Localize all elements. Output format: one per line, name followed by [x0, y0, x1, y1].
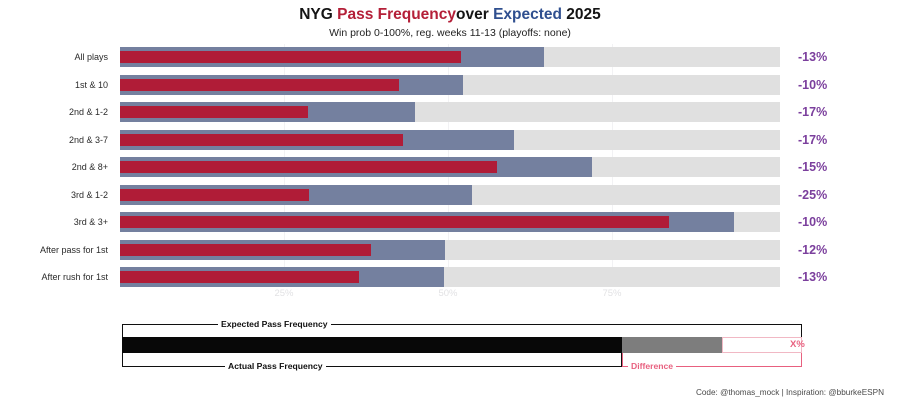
row-difference-label: -17%: [798, 127, 827, 153]
title-part-over: over: [456, 6, 493, 23]
page-title: NYG Pass Frequencyover Expected 2025: [0, 6, 900, 24]
bar-track: [120, 75, 780, 95]
bar-row: 2nd & 1-2-17%: [0, 99, 900, 125]
legend-label-x-percent: X%: [790, 339, 805, 350]
bar-row: All plays-13%: [0, 44, 900, 70]
bar-row: 2nd & 8+-15%: [0, 154, 900, 180]
bar-track: [120, 212, 780, 232]
row-difference-label: -17%: [798, 99, 827, 125]
legend-label-expected: Expected Pass Frequency: [218, 319, 331, 329]
bar-track: [120, 240, 780, 260]
bar-row: 2nd & 3-7-17%: [0, 127, 900, 153]
row-label-2nd-8: 2nd & 8+: [0, 154, 108, 180]
row-label-after-rush-for-1st: After rush for 1st: [0, 264, 108, 290]
bar-row: After pass for 1st-12%: [0, 237, 900, 263]
row-label-2nd-1-2: 2nd & 1-2: [0, 99, 108, 125]
row-label-1st-10: 1st & 10: [0, 72, 108, 98]
row-label-3rd-3: 3rd & 3+: [0, 209, 108, 235]
bar-track: [120, 267, 780, 287]
row-label-3rd-1-2: 3rd & 1-2: [0, 182, 108, 208]
x-axis-tick-label: 25%: [274, 288, 293, 299]
bar-track: [120, 130, 780, 150]
bar-track: [120, 157, 780, 177]
bar-track: [120, 102, 780, 122]
bar-actual: [120, 189, 309, 201]
legend-segment-difference: [622, 337, 722, 353]
bar-actual: [120, 244, 371, 256]
row-label-after-pass-for-1st: After pass for 1st: [0, 237, 108, 263]
row-difference-label: -10%: [798, 209, 827, 235]
bar-track: [120, 47, 780, 67]
bar-row: 3rd & 3+-10%: [0, 209, 900, 235]
footer-credit: Code: @thomas_mock | Inspiration: @bburk…: [696, 388, 884, 397]
title-part-pass-frequency: Pass Frequency: [337, 6, 456, 23]
legend-schematic: Expected Pass Frequency Actual Pass Freq…: [0, 312, 900, 374]
row-difference-label: -13%: [798, 264, 827, 290]
chart-plot-area: All plays-13%1st & 10-10%2nd & 1-2-17%2n…: [0, 44, 900, 292]
row-difference-label: -13%: [798, 44, 827, 70]
legend-bracket-actual: [122, 353, 622, 367]
row-label-2nd-3-7: 2nd & 3-7: [0, 127, 108, 153]
bar-row: 3rd & 1-2-25%: [0, 182, 900, 208]
bar-row: After rush for 1st-13%: [0, 264, 900, 290]
chart-subtitle: Win prob 0-100%, reg. weeks 11-13 (playo…: [0, 27, 900, 40]
row-difference-label: -15%: [798, 154, 827, 180]
title-part-year: 2025: [562, 6, 601, 23]
bar-actual: [120, 106, 308, 118]
legend-label-difference: Difference: [628, 361, 676, 371]
bar-track: [120, 185, 780, 205]
row-difference-label: -25%: [798, 182, 827, 208]
row-difference-label: -12%: [798, 237, 827, 263]
bar-actual: [120, 216, 669, 228]
title-part-team: NYG: [299, 6, 337, 23]
bar-row: 1st & 10-10%: [0, 72, 900, 98]
x-axis-tick-label: 50%: [438, 288, 457, 299]
row-label-all-plays: All plays: [0, 44, 108, 70]
bar-actual: [120, 134, 403, 146]
bar-actual: [120, 51, 461, 63]
legend-bar: [122, 337, 802, 353]
bar-actual: [120, 79, 399, 91]
legend-label-actual: Actual Pass Frequency: [225, 361, 326, 371]
x-axis-tick-label: 75%: [602, 288, 621, 299]
title-part-expected: Expected: [493, 6, 562, 23]
legend-segment-actual: [122, 337, 622, 353]
bar-actual: [120, 271, 359, 283]
bar-actual: [120, 161, 497, 173]
title-block: NYG Pass Frequencyover Expected 2025 Win…: [0, 6, 900, 40]
row-difference-label: -10%: [798, 72, 827, 98]
